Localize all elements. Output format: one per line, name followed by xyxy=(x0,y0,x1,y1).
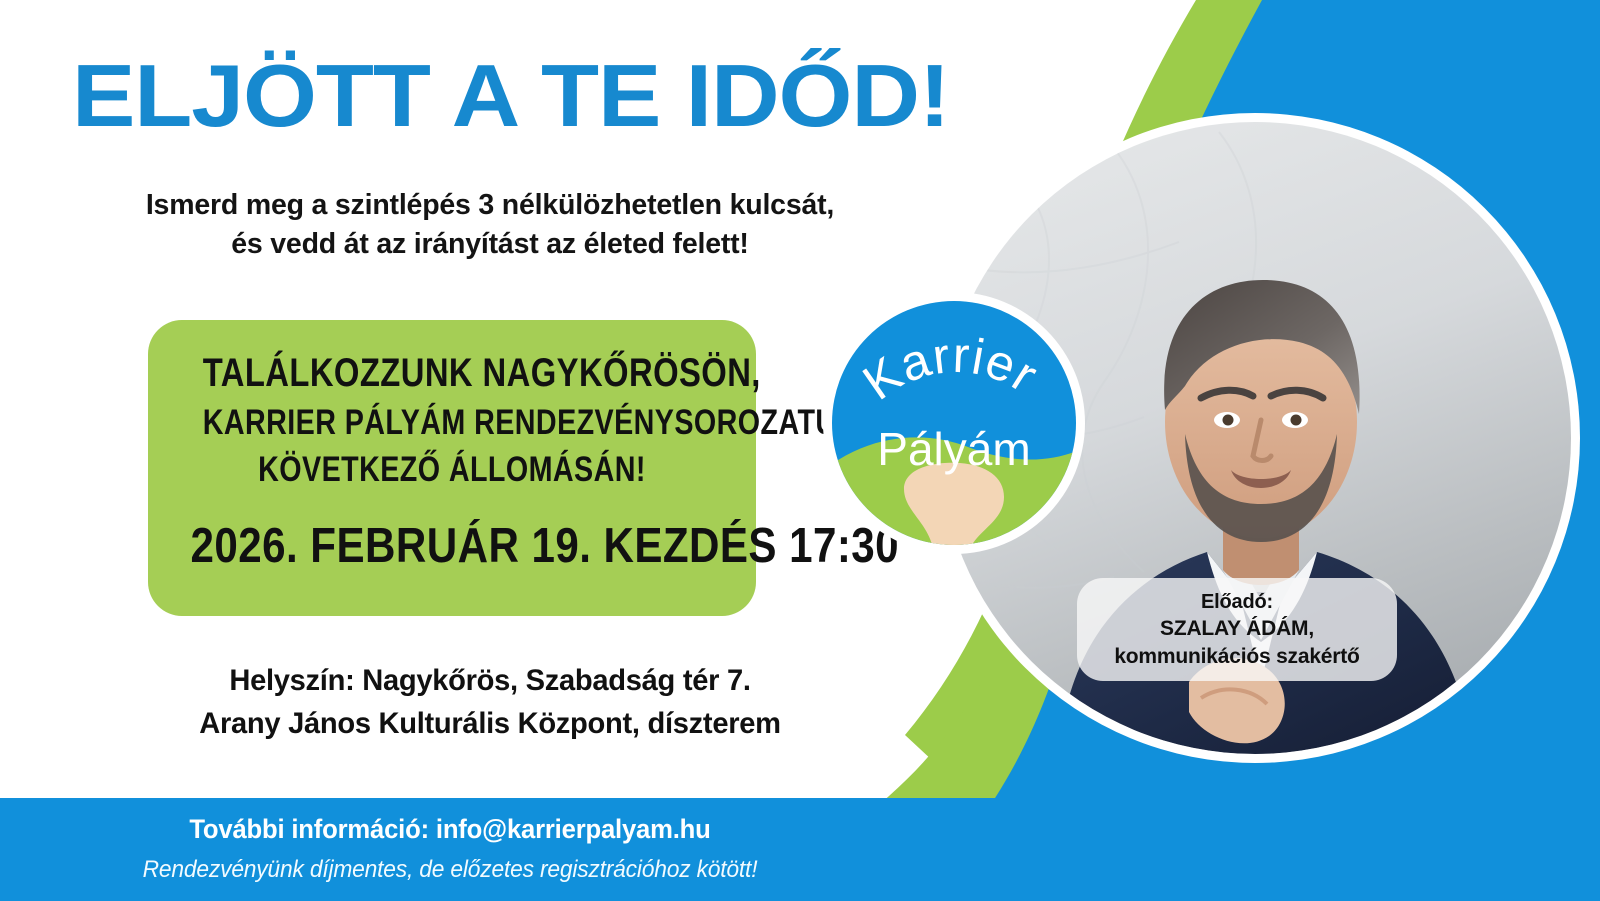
speaker-name-badge: Előadó: SZALAY ÁDÁM, kommunikációs szaké… xyxy=(1077,578,1397,681)
subtitle: Ismerd meg a szintlépés 3 nélkülözhetetl… xyxy=(60,186,920,265)
logo-bottom-word: Pályám xyxy=(877,423,1030,475)
speaker-label-text: Előadó: xyxy=(1114,589,1359,615)
venue-line-2: Arany János Kulturális Központ, dísztere… xyxy=(73,703,907,746)
speaker-role: kommunikációs szakértő xyxy=(1114,643,1359,671)
event-line-3: KÖVETKEZŐ ÁLLOMÁSÁN! xyxy=(203,447,702,494)
footer-note: Rendezvényünk díjmentes, de előzetes reg… xyxy=(23,856,878,884)
page-title: ELJÖTT A TE IDŐD! xyxy=(72,52,1012,140)
event-details-box: TALÁLKOZZUNK NAGYKŐRÖSÖN, KARRIER PÁLYÁM… xyxy=(148,320,756,616)
event-line-1: TALÁLKOZZUNK NAGYKŐRÖSÖN, xyxy=(203,346,702,400)
event-line-2: KARRIER PÁLYÁM RENDEZVÉNYSOROZATUNK xyxy=(203,400,702,447)
subtitle-line-1: Ismerd meg a szintlépés 3 nélkülözhetetl… xyxy=(60,186,920,225)
speaker-name: SZALAY ÁDÁM, xyxy=(1114,615,1359,643)
venue-line-1: Helyszín: Nagykőrös, Szabadság tér 7. xyxy=(73,660,907,703)
event-poster: Előadó: SZALAY ÁDÁM, kommunikációs szaké… xyxy=(0,0,1600,901)
karrier-palyam-logo[interactable]: Karrier Pályám xyxy=(818,287,1090,559)
subtitle-line-2: és vedd át az irányítást az életed felet… xyxy=(60,225,920,264)
footer-contact[interactable]: További információ: info@karrierpalyam.h… xyxy=(23,814,878,845)
event-date-time: 2026. FEBRUÁR 19. KEZDÉS 17:30 xyxy=(191,520,714,574)
footer-bar: További információ: info@karrierpalyam.h… xyxy=(0,798,1600,901)
venue-block: Helyszín: Nagykőrös, Szabadság tér 7. Ar… xyxy=(60,660,920,745)
